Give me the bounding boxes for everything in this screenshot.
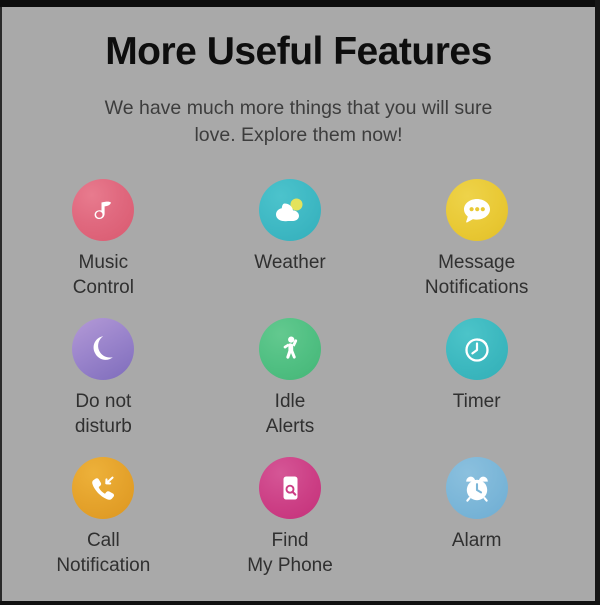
feature-label: Idle Alerts [266, 389, 315, 440]
incoming-call-icon[interactable] [72, 457, 134, 519]
crescent-moon-icon[interactable] [72, 318, 134, 380]
feature-call-notification[interactable]: Call Notification [10, 457, 197, 588]
speech-bubble-dots-icon[interactable] [446, 179, 508, 241]
feature-label: Call Notification [56, 528, 150, 579]
music-note-icon[interactable] [72, 179, 134, 241]
slide-canvas: More Useful Features We have much more t… [2, 7, 595, 601]
feature-weather[interactable]: Weather [197, 179, 384, 310]
feature-idle-alerts[interactable]: Idle Alerts [197, 318, 384, 449]
feature-alarm[interactable]: Alarm [383, 457, 570, 588]
stopwatch-icon[interactable] [446, 318, 508, 380]
alarm-clock-icon[interactable] [446, 457, 508, 519]
stretching-person-icon[interactable] [259, 318, 321, 380]
feature-label: Music Control [73, 250, 134, 301]
page-subtitle: We have much more things that you will s… [84, 73, 514, 149]
features-grid: Music Control Weather [10, 149, 570, 588]
page-title: More Useful Features [2, 7, 595, 73]
feature-music-control[interactable]: Music Control [10, 179, 197, 310]
feature-timer[interactable]: Timer [383, 318, 570, 449]
frame-right-border [595, 0, 600, 605]
feature-message-notifications[interactable]: Message Notifications [383, 179, 570, 310]
feature-label: Find My Phone [247, 528, 333, 579]
feature-label: Alarm [452, 528, 502, 553]
feature-do-not-disturb[interactable]: Do not disturb [10, 318, 197, 449]
phone-search-icon[interactable] [259, 457, 321, 519]
cloud-sun-icon[interactable] [259, 179, 321, 241]
feature-label: Weather [254, 250, 325, 275]
feature-label: Do not disturb [75, 389, 132, 440]
feature-find-my-phone[interactable]: Find My Phone [197, 457, 384, 588]
feature-label: Message Notifications [425, 250, 529, 301]
frame-bottom-border [0, 601, 600, 605]
feature-label: Timer [453, 389, 501, 414]
frame-top-border [0, 0, 600, 7]
slide-page: More Useful Features We have much more t… [0, 0, 600, 605]
